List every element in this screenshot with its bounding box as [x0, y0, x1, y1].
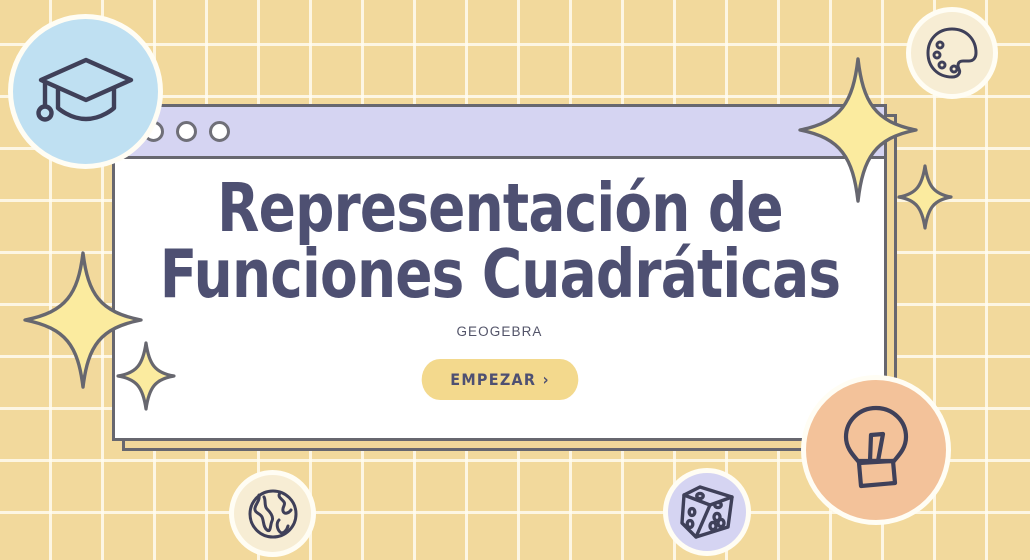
graduation-cap-icon — [34, 50, 138, 134]
page-title-line-2: Funciones Cuadráticas — [159, 241, 840, 307]
slide-window: Representación de Funciones Cuadráticas … — [112, 104, 887, 441]
lightbulb-icon — [837, 403, 915, 497]
window-dot-maximize[interactable] — [209, 121, 230, 142]
palette-badge — [906, 7, 998, 99]
dice-icon — [678, 483, 736, 541]
window-frame: Representación de Funciones Cuadráticas … — [112, 104, 887, 441]
lightbulb-badge — [801, 375, 951, 525]
window-content: Representación de Funciones Cuadráticas … — [115, 159, 884, 438]
sparkle-topright-small — [896, 163, 954, 231]
page-title-line-1: Representación de — [159, 175, 840, 241]
globe-icon — [246, 487, 300, 541]
start-button-label: EMPEZAR — [450, 370, 536, 389]
window-dot-minimize[interactable] — [176, 121, 197, 142]
chevron-right-icon: › — [542, 370, 549, 389]
dice-badge — [663, 468, 751, 556]
globe-badge — [229, 470, 316, 557]
palette-icon — [924, 25, 980, 81]
page-title: Representación de Funciones Cuadráticas — [159, 175, 840, 308]
graduation-cap-badge — [8, 14, 163, 169]
window-titlebar — [115, 107, 884, 159]
start-button[interactable]: EMPEZAR › — [421, 359, 578, 400]
sparkle-left-small — [115, 340, 177, 412]
page-subtitle: GEOGEBRA — [456, 324, 542, 339]
